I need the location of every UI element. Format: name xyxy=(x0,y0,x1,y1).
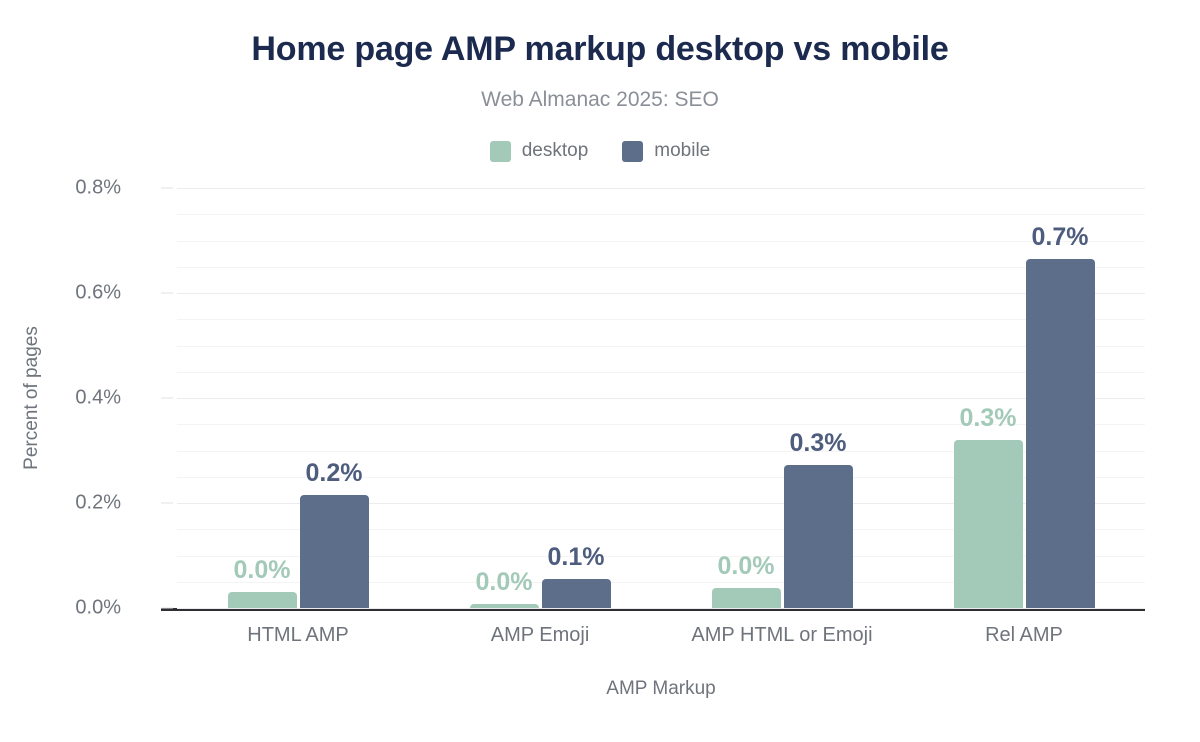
gridline-minor xyxy=(177,319,1145,320)
chart-title: Home page AMP markup desktop vs mobile xyxy=(0,30,1200,69)
legend-swatch-desktop xyxy=(490,141,511,162)
legend-label-desktop: desktop xyxy=(522,140,589,162)
gridline-major xyxy=(177,188,1145,189)
bar-value-label-mobile: 0.1% xyxy=(548,543,605,572)
gridline-minor xyxy=(177,214,1145,215)
x-axis-title: AMP Markup xyxy=(177,678,1145,700)
bar-mobile[interactable] xyxy=(542,579,611,608)
gridline-major xyxy=(177,608,1145,609)
legend-item-mobile[interactable]: mobile xyxy=(622,140,710,162)
gridline-minor xyxy=(177,267,1145,268)
x-tick-label: AMP Emoji xyxy=(491,624,590,647)
y-tick-mark xyxy=(161,293,173,294)
bar-mobile[interactable] xyxy=(1026,259,1095,608)
bar-value-label-mobile: 0.7% xyxy=(1032,223,1089,252)
x-tick-label: AMP HTML or Emoji xyxy=(691,624,872,647)
x-tick-label: Rel AMP xyxy=(985,624,1063,647)
gridline-major xyxy=(177,398,1145,399)
bar-desktop[interactable] xyxy=(712,588,781,608)
plot-area: 0.0%0.2%0.4%0.6%0.8%0.0%0.2%0.0%0.1%0.0%… xyxy=(177,188,1145,608)
legend-item-desktop[interactable]: desktop xyxy=(490,140,589,162)
bar-desktop[interactable] xyxy=(228,592,297,608)
gridline-minor xyxy=(177,241,1145,242)
bar-value-label-desktop: 0.0% xyxy=(718,552,775,581)
y-tick-mark xyxy=(161,398,173,399)
y-tick-label: 0.2% xyxy=(1,492,121,515)
bar-value-label-desktop: 0.0% xyxy=(234,556,291,585)
bar-value-label-mobile: 0.2% xyxy=(306,459,363,488)
legend-label-mobile: mobile xyxy=(654,140,710,162)
bar-value-label-desktop: 0.3% xyxy=(960,404,1017,433)
gridline-major xyxy=(177,293,1145,294)
gridline-minor xyxy=(177,372,1145,373)
bar-mobile[interactable] xyxy=(300,495,369,608)
chart-container: Home page AMP markup desktop vs mobile W… xyxy=(0,0,1200,742)
y-tick-label: 0.4% xyxy=(1,387,121,410)
x-tick-label: HTML AMP xyxy=(247,624,349,647)
y-tick-mark xyxy=(161,503,173,504)
y-tick-mark xyxy=(161,608,173,609)
bar-value-label-mobile: 0.3% xyxy=(790,429,847,458)
gridline-minor xyxy=(177,346,1145,347)
y-tick-label: 0.0% xyxy=(1,597,121,620)
legend-swatch-mobile xyxy=(622,141,643,162)
bar-desktop[interactable] xyxy=(470,604,539,608)
y-tick-label: 0.6% xyxy=(1,282,121,305)
y-tick-mark xyxy=(161,188,173,189)
y-tick-label: 0.8% xyxy=(1,177,121,200)
bar-desktop[interactable] xyxy=(954,440,1023,608)
chart-subtitle: Web Almanac 2025: SEO xyxy=(0,88,1200,112)
bar-mobile[interactable] xyxy=(784,465,853,608)
chart-legend: desktop mobile xyxy=(0,140,1200,162)
bar-value-label-desktop: 0.0% xyxy=(476,568,533,597)
